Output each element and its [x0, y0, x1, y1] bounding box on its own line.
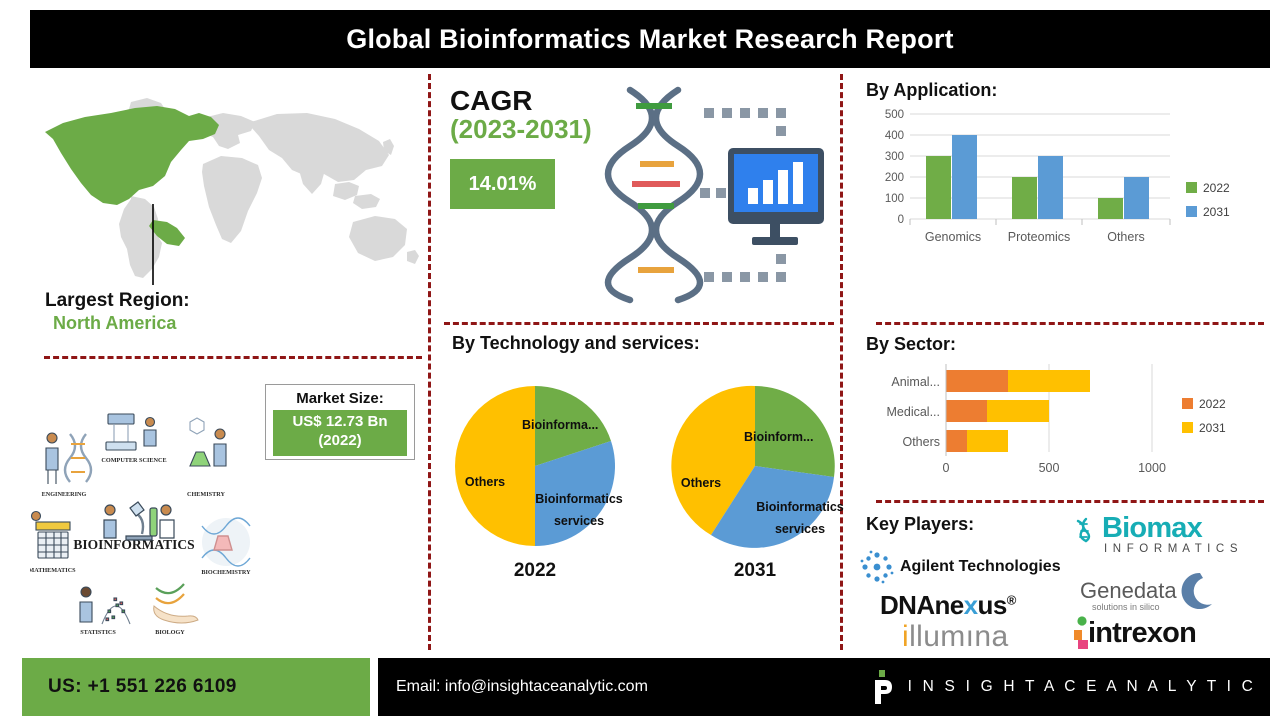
bar-genomics-2031: [952, 135, 977, 219]
pie-2031-label-others: Others: [681, 476, 721, 490]
cat-proteomics: Proteomics: [1008, 230, 1071, 244]
legend-label-2031: 2031: [1203, 205, 1230, 219]
legend-label-2022: 2022: [1199, 397, 1226, 411]
cat-animal: Animal...: [891, 375, 940, 389]
legend-swatch-2022: [1186, 182, 1197, 193]
agilent-icon: [858, 548, 896, 586]
pie-2022-label-bioinformatics: Bioinforma...: [522, 418, 598, 432]
footer-email-text: Email: info@insightaceanalytic.com: [378, 678, 648, 696]
bar-animal-2022: [946, 370, 1008, 392]
illus-label-engineering: ENGINEERING: [42, 491, 87, 498]
insight-ace-logo-icon: [866, 668, 896, 706]
svg-text:200: 200: [885, 172, 904, 184]
logo-illumina-text: illumına: [902, 620, 1009, 654]
cagr-block: CAGR (2023-2031) 14.01%: [450, 86, 592, 209]
footer-brand: I N S I G H T A C E A N A L Y T I C: [866, 658, 1256, 716]
app-legend: 2022 2031: [1186, 181, 1230, 219]
svg-text:300: 300: [885, 151, 904, 163]
legend-label-2022: 2022: [1203, 181, 1230, 195]
pie-2022-label-services: Bioinformatics services: [535, 492, 623, 528]
divider-horizontal-right-top: [876, 322, 1264, 325]
logo-agilent-text: Agilent Technologies: [900, 558, 1061, 576]
bar-proteomics-2022: [1012, 177, 1037, 219]
infographic-page: Global Bioinformatics Market Research Re…: [0, 0, 1280, 720]
largest-region-block: Largest Region: North America: [45, 290, 190, 334]
page-title: Global Bioinformatics Market Research Re…: [346, 24, 953, 55]
page-header: Global Bioinformatics Market Research Re…: [30, 10, 1270, 68]
app-y-tick-labels: 500 400 300 200 100 0: [885, 109, 904, 226]
illus-label-statistics: STATISTICS: [80, 629, 116, 636]
market-size-card: Market Size: US$ 12.73 Bn (2022): [265, 384, 415, 460]
pie-chart-2022: Bioinforma... Bioinformatics services Ot…: [440, 378, 630, 582]
pie-2031-label-services: Bioinformatics services: [756, 500, 844, 536]
world-map: [35, 92, 427, 292]
svg-text:400: 400: [885, 130, 904, 142]
logo-biomax-text: Biomax: [1102, 512, 1202, 545]
cagr-period: (2023-2031): [450, 115, 592, 145]
logo-biomax-sub: I N F O R M A T I C S: [1104, 543, 1239, 555]
pie-2031-year: 2031: [660, 560, 850, 582]
technology-pie-charts: Bioinforma... Bioinformatics services Ot…: [440, 372, 840, 627]
footer-brand-text: I N S I G H T A C E A N A L Y T I C: [908, 678, 1256, 696]
sector-x-tick-labels: 0 500 1000: [943, 461, 1166, 475]
market-size-amount: US$ 12.73 Bn: [273, 413, 407, 432]
sector-legend: 2022 2031: [1182, 397, 1226, 435]
analytics-monitor-icon: [728, 148, 824, 245]
svg-text:500: 500: [885, 109, 904, 121]
chart-by-sector: Animal... Medical... Others 0 500 1000 2…: [866, 360, 1266, 495]
bar-medical-2031: [987, 400, 1049, 422]
logo-biomax: Biomax I N F O R M A T I C S: [1074, 512, 1239, 555]
footer-bar: Email: info@insightaceanalytic.com I N S…: [378, 658, 1270, 716]
app-category-labels: Genomics Proteomics Others: [925, 230, 1145, 244]
divider-horizontal-middle: [444, 322, 834, 325]
cat-others: Others: [1107, 230, 1145, 244]
divider-vertical-left: [428, 74, 431, 650]
legend-label-2031: 2031: [1199, 421, 1226, 435]
illus-label-biochemistry: BIOCHEMISTRY: [201, 569, 251, 576]
illus-label-computer-science: COMPUTER SCIENCE: [101, 457, 166, 464]
bar-others-2031: [967, 430, 1008, 452]
app-category-ticks: [910, 219, 1170, 225]
key-players-logos: Agilent Technologies DNAnexus® illumına: [862, 508, 1268, 654]
divider-horizontal-right-bottom: [876, 500, 1264, 503]
xtick-500: 500: [1039, 461, 1060, 475]
pie-chart-2031: Bioinform... Bioinformatics services Oth…: [660, 378, 850, 582]
footer-phone-text: US: +1 551 226 6109: [48, 676, 237, 698]
bar-medical-2022: [946, 400, 987, 422]
svg-text:100: 100: [885, 193, 904, 205]
logo-intrexon-text: intrexon: [1088, 617, 1196, 650]
svg-text:0: 0: [898, 214, 904, 226]
bar-others-2022: [946, 430, 967, 452]
cagr-value: 14.01%: [450, 159, 555, 209]
bioinformatics-disciplines-illustration: ENGINEERING COMPUTER SCIENCE CHEMISTRY M…: [30, 392, 280, 640]
logo-genedata-sub: solutions in silico: [1092, 602, 1160, 612]
section-title-sector: By Sector:: [866, 334, 956, 355]
logo-genedata-text: Genedata: [1080, 578, 1177, 604]
section-title-application: By Application:: [866, 80, 997, 101]
bar-genomics-2022: [926, 156, 951, 219]
market-size-year: (2022): [273, 432, 407, 451]
pie-2022-label-others: Others: [465, 475, 505, 489]
largest-region-value: North America: [45, 312, 190, 335]
bar-others-2022: [1098, 198, 1123, 219]
logo-agilent: Agilent Technologies: [858, 548, 1061, 586]
legend-swatch-2031: [1182, 422, 1193, 433]
logo-dnanexus-text: DNAnexus®: [880, 590, 1016, 621]
legend-swatch-2022: [1182, 398, 1193, 409]
largest-region-label: Largest Region:: [45, 290, 190, 312]
illus-label-mathematics: MATHEMATICS: [30, 567, 76, 574]
footer-phone: US: +1 551 226 6109: [22, 658, 370, 716]
cat-medical: Medical...: [887, 405, 941, 419]
sector-bars: [946, 370, 1090, 452]
dna-base-pairs: [632, 106, 680, 270]
logo-dnanexus: DNAnexus®: [880, 590, 1016, 621]
genedata-icon: [1179, 570, 1221, 612]
market-size-value: US$ 12.73 Bn (2022): [273, 410, 407, 456]
pie-2031-label-bioinformatics: Bioinform...: [744, 430, 813, 444]
chart-by-application: 500 400 300 200 100 0: [866, 106, 1266, 251]
biomax-icon: [1074, 515, 1104, 545]
bar-animal-2031: [1008, 370, 1090, 392]
logo-illumina: illumına: [902, 620, 1009, 654]
logo-genedata: Genedata solutions in silico: [1080, 570, 1221, 612]
illus-label-chemistry: CHEMISTRY: [187, 491, 225, 498]
market-size-label: Market Size:: [296, 390, 384, 407]
xtick-1000: 1000: [1138, 461, 1166, 475]
divider-horizontal-left: [44, 356, 422, 359]
legend-swatch-2031: [1186, 206, 1197, 217]
cagr-label: CAGR: [450, 86, 592, 115]
logo-intrexon: intrexon: [1070, 616, 1196, 650]
illus-label-biology: BIOLOGY: [155, 629, 185, 636]
section-title-technology: By Technology and services:: [452, 333, 700, 354]
bar-proteomics-2031: [1038, 156, 1063, 219]
cat-genomics: Genomics: [925, 230, 981, 244]
sector-category-labels: Animal... Medical... Others: [887, 375, 941, 449]
dna-analytics-graphic: [600, 80, 845, 310]
cat-others: Others: [902, 435, 940, 449]
xtick-0: 0: [943, 461, 950, 475]
pie-2022-year: 2022: [440, 560, 630, 582]
bar-others-2031: [1124, 177, 1149, 219]
